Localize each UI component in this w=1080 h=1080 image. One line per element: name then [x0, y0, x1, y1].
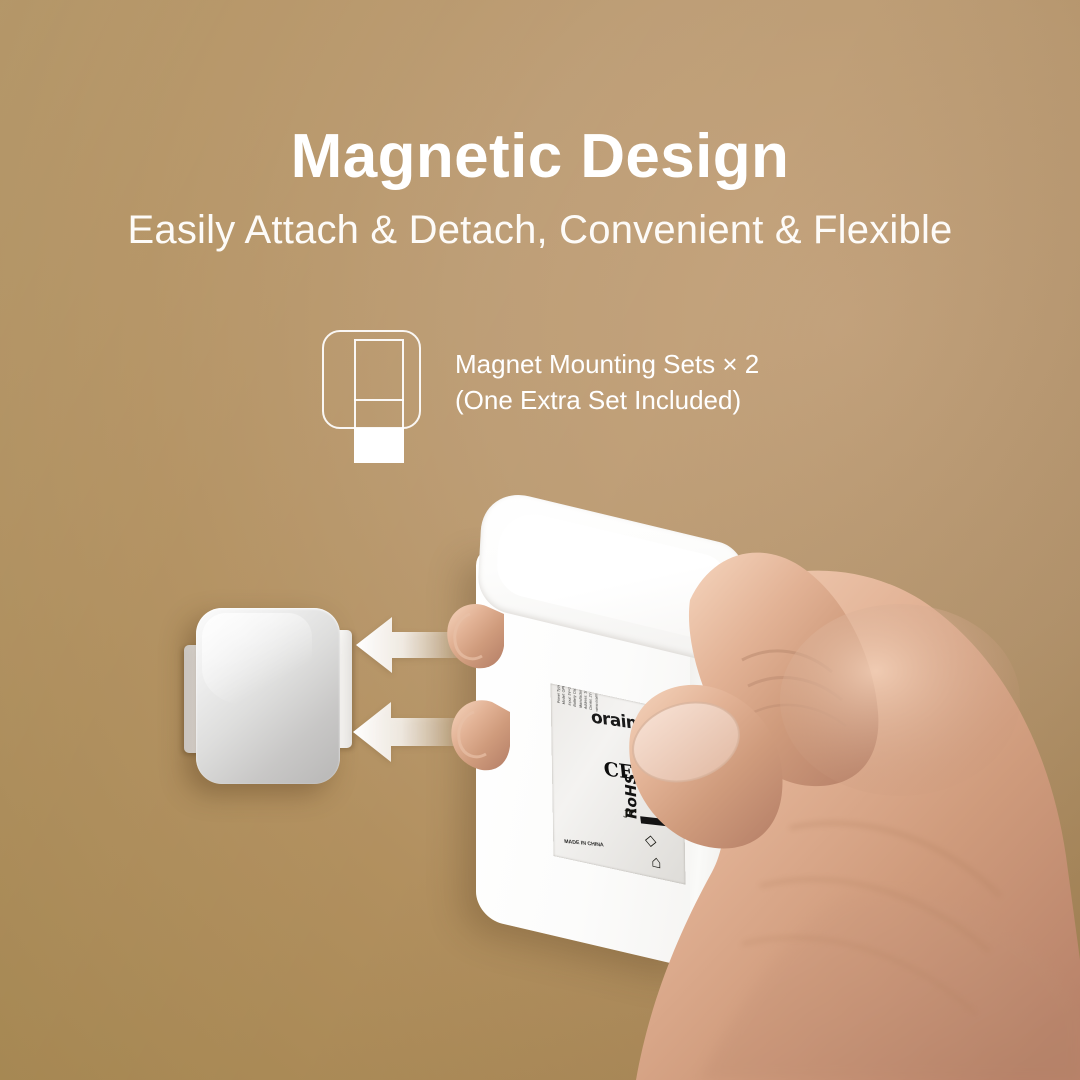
hand-holding-power-bank: [0, 0, 1080, 1080]
knuckle-highlight: [780, 604, 1020, 796]
product-marketing-image: Magnetic Design Easily Attach & Detach, …: [0, 0, 1080, 1080]
